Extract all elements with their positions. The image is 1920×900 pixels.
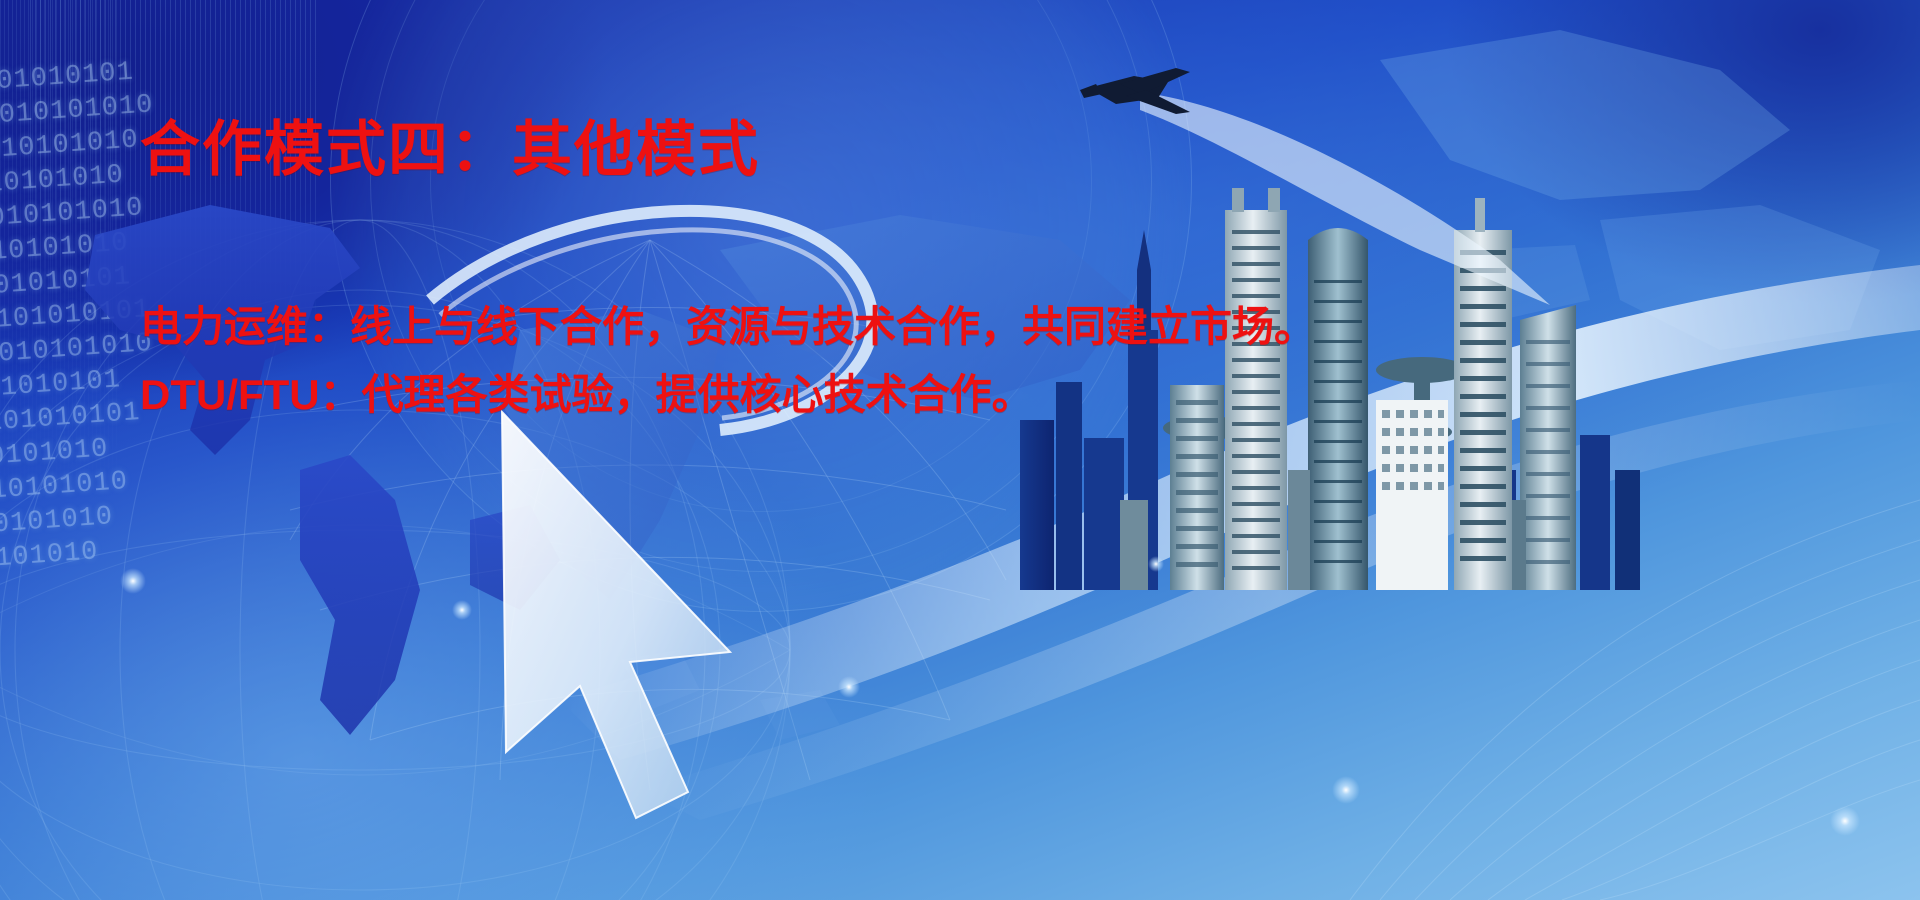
- body-line-1: 电力运维：线上与线下合作，资源与技术合作，共同建立市场。: [140, 296, 1700, 358]
- mouse-cursor-arrow-icon: [480, 400, 900, 840]
- presentation-slide: 0101010101 01010101010 1010101010 010101…: [0, 0, 1920, 900]
- line-texture-decor: [1200, 480, 1920, 900]
- body-line-2: DTU/FTU：代理各类试验，提供核心技术合作。: [140, 364, 1700, 426]
- body-text-block: 电力运维：线上与线下合作，资源与技术合作，共同建立市场。 DTU/FTU：代理各…: [140, 296, 1700, 426]
- airplane-icon: [1080, 60, 1640, 320]
- page-title: 合作模式四：其他模式: [140, 118, 760, 183]
